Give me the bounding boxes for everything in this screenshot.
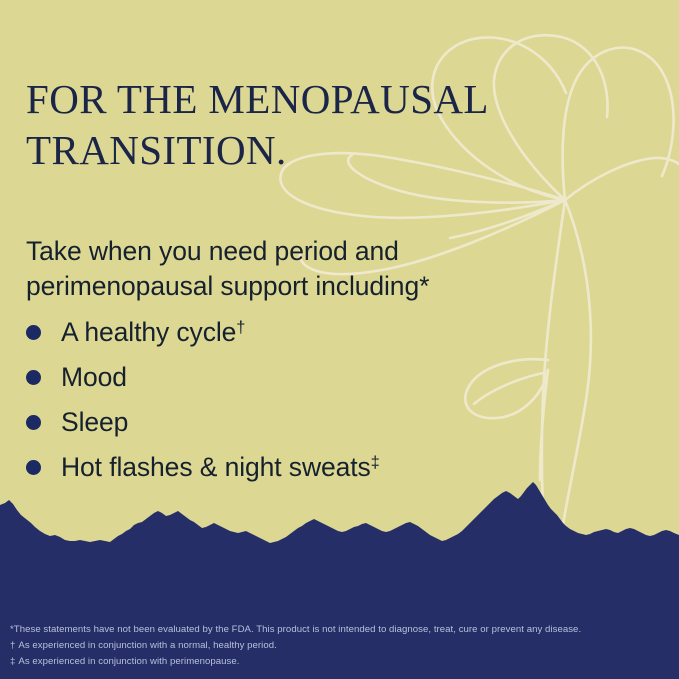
list-item: Mood xyxy=(26,355,626,400)
list-item-label: Mood xyxy=(61,362,127,393)
footnotes: *These statements have not been evaluate… xyxy=(10,622,674,670)
list-item-label: Hot flashes & night sweats‡ xyxy=(61,452,380,483)
page-title: FOR THE MENOPAUSAL TRANSITION. xyxy=(26,74,566,176)
promo-card: FOR THE MENOPAUSAL TRANSITION. Take when… xyxy=(0,0,679,679)
footnote-marker: ‡ xyxy=(10,654,15,670)
list-item: Hot flashes & night sweats‡ xyxy=(26,445,626,490)
bullet-icon xyxy=(26,325,41,340)
bullet-icon xyxy=(26,370,41,385)
footnote-text: As experienced in conjunction with a nor… xyxy=(18,640,276,651)
footnote-marker: † xyxy=(236,318,245,336)
footnote-text: As experienced in conjunction with perim… xyxy=(18,656,239,667)
footnote-marker: ‡ xyxy=(371,453,380,471)
footnote-line: †As experienced in conjunction with a no… xyxy=(10,638,674,654)
footnote-text: These statements have not been evaluated… xyxy=(14,624,581,635)
intro-copy: Take when you need period and perimenopa… xyxy=(26,234,586,304)
benefit-list: A healthy cycle† Mood Sleep Hot flashes … xyxy=(26,310,626,490)
bullet-icon xyxy=(26,460,41,475)
footnote-line: *These statements have not been evaluate… xyxy=(10,622,674,638)
footnote-marker: † xyxy=(10,638,15,654)
footnote-line: ‡As experienced in conjunction with peri… xyxy=(10,654,674,670)
list-item: A healthy cycle† xyxy=(26,310,626,355)
list-item-label: A healthy cycle† xyxy=(61,317,245,348)
list-item: Sleep xyxy=(26,400,626,445)
list-item-label: Sleep xyxy=(61,407,128,438)
bullet-icon xyxy=(26,415,41,430)
